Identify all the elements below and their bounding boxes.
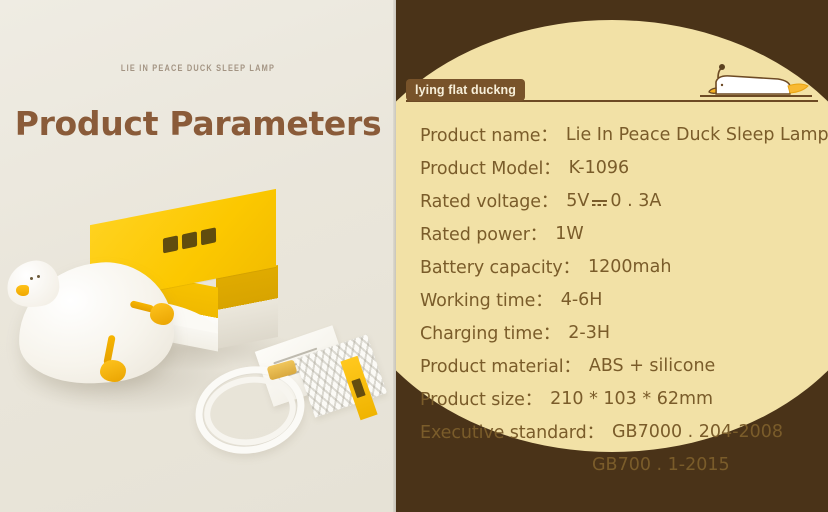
spec-row: Product size： 210 * 103 * 62mm (420, 382, 820, 415)
page-eyebrow: LIE IN PEACE DUCK SLEEP LAMP (36, 63, 361, 73)
spec-value: K-1096 (569, 158, 630, 178)
spec-value: 4-6H (561, 290, 603, 310)
duck-foot-upper (150, 303, 174, 325)
spec-row: Product name： Lie In Peace Duck Sleep La… (420, 118, 820, 151)
spec-value: GB700 . 1-2015 (592, 455, 730, 475)
spec-value: GB7000 . 204-2008 (612, 422, 783, 442)
duck-eye-left (30, 277, 33, 280)
spec-row: Rated power： 1W (420, 217, 820, 250)
spec-label: Charging time： (420, 320, 560, 345)
lying-duck-icon (700, 62, 812, 102)
duck-foot-lower (100, 360, 126, 382)
spec-value: 1W (555, 224, 583, 244)
spec-row: Product material： ABS + silicone (420, 349, 820, 382)
spec-label: Product name： (420, 122, 558, 147)
spec-row: Charging time： 2-3H (420, 316, 820, 349)
product-photo (0, 185, 396, 512)
spec-label: Battery capacity： (420, 254, 580, 279)
spec-label: Rated voltage： (420, 188, 558, 213)
spec-label: Working time： (420, 287, 553, 312)
spec-value: 210 * 103 * 62mm (550, 389, 713, 409)
product-tag-badge: lying flat duckng (406, 79, 525, 101)
spec-value: Lie In Peace Duck Sleep Lamp (566, 125, 828, 145)
spec-value: 1200mah (588, 257, 671, 277)
spec-value: 2-3H (568, 323, 610, 343)
spec-label: Rated power： (420, 221, 547, 246)
spec-label: Product Model： (420, 155, 561, 180)
spec-row: Product Model： K-1096 (420, 151, 820, 184)
spec-list: Product name： Lie In Peace Duck Sleep La… (420, 118, 820, 481)
left-photo-panel: LIE IN PEACE DUCK SLEEP LAMP Product Par… (0, 0, 396, 512)
product-parameters-page: LIE IN PEACE DUCK SLEEP LAMP Product Par… (0, 0, 828, 512)
right-spec-panel: lying flat duckng Product name： Lie In P… (396, 0, 828, 512)
spec-row: Working time： 4-6H (420, 283, 820, 316)
duck-beak-icon (16, 285, 29, 296)
duck-eye-right (37, 275, 40, 278)
dc-current-symbol-icon (592, 195, 607, 207)
spec-value-suffix: 0 . 3A (610, 191, 661, 211)
spec-label: Product material： (420, 353, 581, 378)
page-title: Product Parameters (0, 104, 396, 143)
spec-row: Executive standard： GB7000 . 204-2008 (420, 415, 820, 448)
box-side-face (216, 265, 278, 349)
spec-row: Battery capacity： 1200mah (420, 250, 820, 283)
spec-label: Executive standard： (420, 419, 604, 444)
spec-row: Rated voltage： 5V 0 . 3A (420, 184, 820, 217)
spec-row-continuation: GB700 . 1-2015 (420, 448, 820, 481)
spec-label: Product size： (420, 386, 542, 411)
spec-content: lying flat duckng Product name： Lie In P… (396, 0, 828, 512)
spec-value: ABS + silicone (589, 356, 715, 376)
spec-value-prefix: 5V (566, 191, 589, 211)
